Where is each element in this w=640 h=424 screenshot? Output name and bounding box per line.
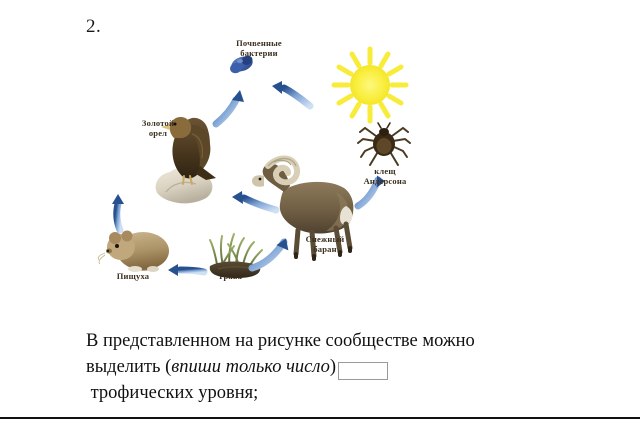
question-page: 2. [0,0,640,424]
question-line-1: В представленном на рисунке сообществе м… [86,331,475,351]
arrow-eagle-to-bacteria [216,90,244,124]
arrow-tick-to-bacteria [272,81,310,106]
arrow-grass-to-sheep [252,236,292,268]
arrow-sheep-to-eagle [232,191,276,210]
pika-icon [98,231,169,273]
footer-divider [0,417,640,419]
answer-input[interactable] [338,362,388,380]
question-line-2-after: ) [330,357,336,377]
question-line-3: трофических уровня; [86,380,586,406]
sun-icon [334,49,406,121]
food-web-diagram: Почвенные бактерии Золотой орел клещ Анд… [86,34,466,302]
question-line-2-before: выделить ( [86,357,171,377]
label-golden-eagle: Золотой орел [128,118,188,138]
question-text-block: В представленном на рисунке сообществе м… [86,328,586,406]
arrow-grass-to-pika [168,264,204,276]
label-anderson-tick: клещ Андерсона [351,166,419,186]
question-instruction-italic: впиши только число [171,357,330,377]
tick-icon [358,123,410,165]
arrow-pika-to-eagle [112,194,124,230]
label-grass: Трава [203,271,257,281]
label-soil-bacteria: Почвенные бактерии [219,38,299,58]
label-snow-sheep: Снежный баран [291,234,359,254]
label-pika: Пищуха [102,271,164,281]
